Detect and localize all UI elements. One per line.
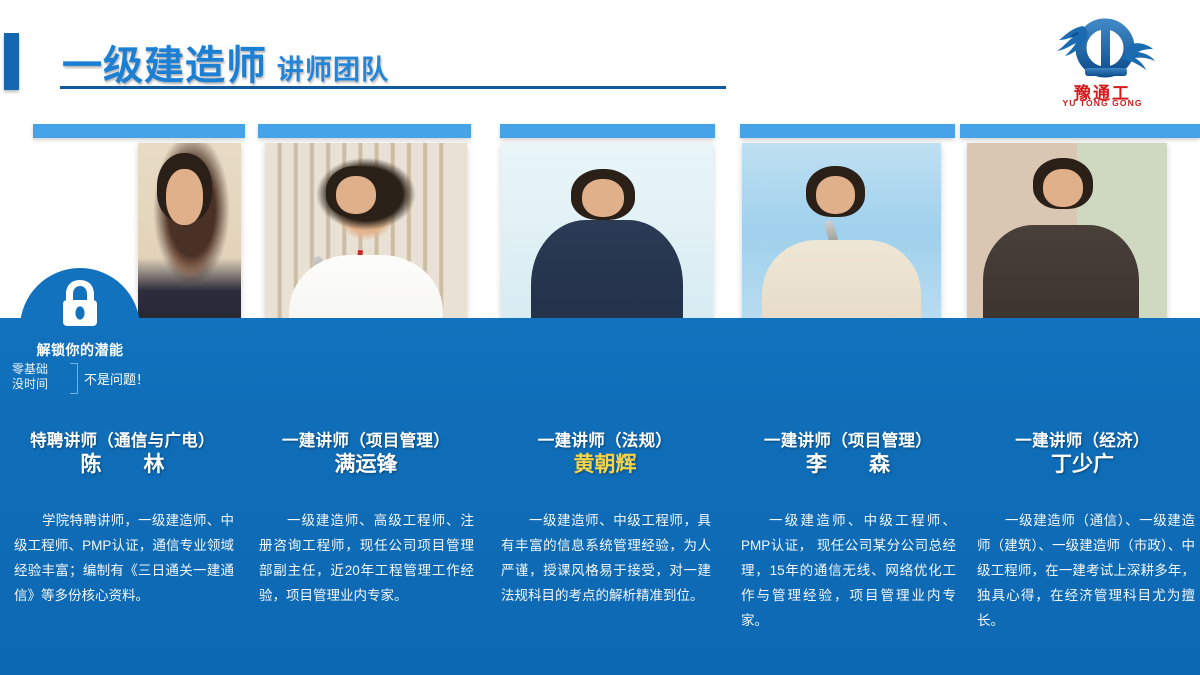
card-topbar-2 xyxy=(258,124,471,138)
header-accent-bar xyxy=(4,33,19,90)
instructor-desc-3: 一级建造师、中级工程师，具有丰富的信息系统管理经验，为人严谨，授课风格易于接受，… xyxy=(501,508,711,608)
instructor-desc-2: 一级建造师、高级工程师、注册咨询工程师，现任公司项目管理部副主任，近20年工程管… xyxy=(259,508,474,608)
instructor-name-3: 黄朝辉 xyxy=(489,452,721,478)
badge-subtext: 零基础 没时间 不是问题！ xyxy=(12,362,212,402)
instructor-name-2: 满运锋 xyxy=(248,452,484,478)
badge-bracket-decor xyxy=(70,363,78,394)
instructor-title-5: 一建讲师（经济） xyxy=(965,430,1200,452)
instructor-title-4: 一建讲师（项目管理） xyxy=(726,430,970,452)
dragon-logo-icon xyxy=(1045,18,1160,80)
instructor-title-2: 一建讲师（项目管理） xyxy=(248,430,484,452)
page-title-sub: 讲师团队 xyxy=(277,55,389,85)
card-topbar-5 xyxy=(960,124,1200,138)
lock-icon xyxy=(58,278,102,326)
card-topbar-4 xyxy=(740,124,955,138)
instructor-name-1: 陈 林 xyxy=(0,452,245,478)
card-topbar-1 xyxy=(33,124,245,138)
logo-english-text: YU TONG GONG xyxy=(1035,98,1170,108)
page-title: 一级建造师讲师团队 xyxy=(62,33,389,91)
badge-answer: 不是问题！ xyxy=(84,369,149,388)
page-header: 一级建造师讲师团队 豫通工 YU TONG GONG xyxy=(0,0,1200,118)
page-title-main: 一级建造师 xyxy=(62,44,267,88)
instructor-desc-1: 学院特聘讲师，一级建造师、中级工程师、PMP认证，通信专业领域经验丰富；编制有《… xyxy=(14,508,234,608)
card-topbar-3 xyxy=(500,124,715,138)
instructor-title-1: 特聘讲师（通信与广电） xyxy=(0,430,245,452)
instructor-desc-5: 一级建造师（通信）、一级建造师（建筑）、一级建造师（市政）、中级工程师，在一建考… xyxy=(977,508,1195,633)
company-logo: 豫通工 YU TONG GONG xyxy=(1035,18,1170,108)
instructor-title-3: 一建讲师（法规） xyxy=(489,430,721,452)
badge-line-1: 零基础 xyxy=(12,362,48,377)
badge-conditions: 零基础 没时间 xyxy=(12,362,48,392)
instructors-panel: 解锁你的潜能 零基础 没时间 不是问题！ 特聘讲师（通信与广电） 陈 林 学院特… xyxy=(0,318,1200,675)
instructor-name-4: 李 森 xyxy=(726,452,970,478)
instructor-desc-4: 一级建造师、中级工程师、 PMP认证， 现任公司某分公司总经理，15年的通信无线… xyxy=(741,508,956,633)
badge-line-2: 没时间 xyxy=(12,377,48,392)
instructor-name-5: 丁少广 xyxy=(965,452,1200,478)
badge-title: 解锁你的潜能 xyxy=(0,340,160,360)
